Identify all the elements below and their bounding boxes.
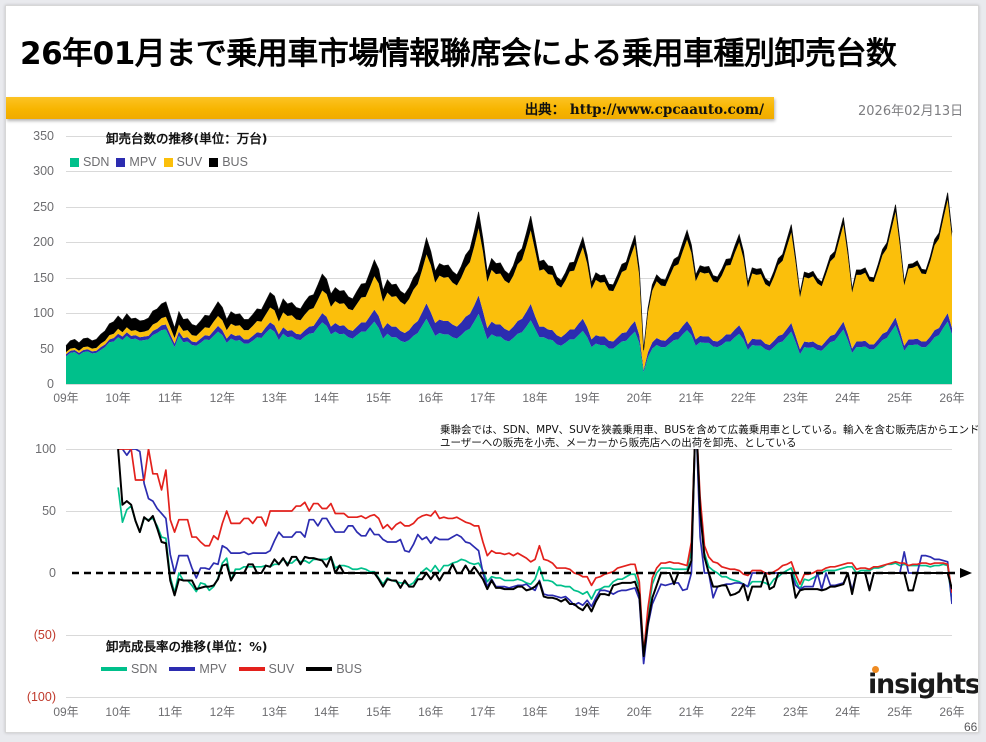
growth-legend-item: BUS	[306, 662, 362, 676]
growth-legend-label: SUV	[269, 662, 295, 676]
volume-x-tick: 13年	[251, 392, 297, 404]
volume-x-tick: 14年	[304, 392, 350, 404]
slide-date: 2026年02月13日	[858, 100, 963, 119]
volume-x-tick: 10年	[95, 392, 141, 404]
growth-x-tick: 17年	[460, 706, 506, 718]
growth-legend-item: SDN	[101, 662, 157, 676]
source-banner: 出典： http://www.cpcaauto.com/	[6, 97, 774, 119]
insights-logo: insights	[868, 671, 979, 698]
logo-dot-icon	[872, 666, 879, 673]
growth-x-tick: 24年	[825, 706, 871, 718]
volume-legend-label: SDN	[83, 155, 109, 169]
source-label: 出典： http://www.cpcaauto.com/	[525, 98, 764, 118]
zero-line-arrow-icon	[960, 568, 972, 578]
volume-legend-item: SDN	[70, 155, 109, 169]
volume-x-tick: 24年	[825, 392, 871, 404]
volume-y-tick: 100	[14, 307, 54, 320]
volume-x-tick: 16年	[408, 392, 454, 404]
growth-x-tick: 26年	[929, 706, 975, 718]
volume-legend-item: MPV	[116, 155, 156, 169]
growth-legend-label: BUS	[336, 662, 362, 676]
volume-x-tick: 15年	[356, 392, 402, 404]
growth-line-bus	[118, 436, 952, 656]
growth-line-mpv	[118, 436, 952, 664]
growth-x-tick: 18年	[512, 706, 558, 718]
growth-x-tick: 15年	[356, 706, 402, 718]
volume-legend-item: BUS	[209, 155, 248, 169]
volume-area-mpv	[66, 295, 952, 372]
volume-area-bus	[66, 193, 952, 352]
slide-canvas: 26年01月まで乗用車市場情報聯席会による乗用車種別卸売台数 出典： http:…	[5, 5, 979, 733]
volume-x-tick: 12年	[199, 392, 245, 404]
volume-y-tick: 350	[14, 130, 54, 143]
growth-y-tick: (100)	[10, 691, 56, 704]
legend-swatch-icon	[116, 158, 125, 167]
growth-chart-title: 卸売成長率の推移(単位：%)	[106, 636, 267, 655]
volume-stack-outline	[66, 193, 952, 350]
growth-x-tick: 13年	[251, 706, 297, 718]
growth-y-tick: 0	[10, 567, 56, 580]
growth-x-tick: 12年	[199, 706, 245, 718]
growth-x-tick: 25年	[877, 706, 923, 718]
growth-x-tick: 20年	[616, 706, 662, 718]
growth-x-tick: 10年	[95, 706, 141, 718]
legend-line-icon	[306, 667, 332, 671]
volume-y-tick: 50	[14, 343, 54, 356]
growth-x-tick: 09年	[43, 706, 89, 718]
growth-x-tick: 16年	[408, 706, 454, 718]
volume-x-tick: 21年	[668, 392, 714, 404]
legend-swatch-icon	[209, 158, 218, 167]
growth-rate-chart: (100)(50)050100 09年10年11年12年13年14年15年16年…	[6, 436, 978, 726]
growth-legend-label: MPV	[199, 662, 226, 676]
growth-x-tick: 21年	[668, 706, 714, 718]
growth-legend-item: SUV	[239, 662, 295, 676]
growth-legend-label: SDN	[131, 662, 157, 676]
volume-x-tick: 11年	[147, 392, 193, 404]
legend-swatch-icon	[164, 158, 173, 167]
volume-y-tick: 300	[14, 165, 54, 178]
volume-legend-label: SUV	[177, 155, 203, 169]
volume-x-tick: 20年	[616, 392, 662, 404]
growth-x-tick: 14年	[304, 706, 350, 718]
legend-line-icon	[169, 667, 195, 671]
volume-legend-item: SUV	[164, 155, 203, 169]
volume-area-suv	[66, 200, 952, 370]
logo-text: insights	[868, 669, 979, 700]
volume-x-tick: 19年	[564, 392, 610, 404]
growth-y-tick: (50)	[10, 629, 56, 642]
volume-chart-title: 卸売台数の推移(単位：万台)	[106, 128, 267, 147]
legend-swatch-icon	[70, 158, 79, 167]
page-title: 26年01月まで乗用車市場情報聯席会による乗用車種別卸売台数	[20, 28, 960, 73]
volume-legend: SDNMPVSUVBUS	[70, 155, 248, 169]
growth-x-tick: 19年	[564, 706, 610, 718]
growth-x-tick: 23年	[773, 706, 819, 718]
volume-y-tick: 0	[14, 378, 54, 391]
growth-legend: SDNMPVSUVBUS	[101, 662, 362, 676]
volume-y-tick: 250	[14, 201, 54, 214]
growth-y-tick: 50	[10, 505, 56, 518]
volume-legend-label: MPV	[129, 155, 156, 169]
legend-line-icon	[239, 667, 265, 671]
volume-x-tick: 09年	[43, 392, 89, 404]
volume-legend-label: BUS	[222, 155, 248, 169]
volume-x-tick: 22年	[721, 392, 767, 404]
volume-y-tick: 150	[14, 272, 54, 285]
growth-y-tick: 100	[10, 443, 56, 456]
legend-line-icon	[101, 667, 127, 671]
volume-x-tick: 17年	[460, 392, 506, 404]
wholesale-volume-chart: 050100150200250300350 09年10年11年12年13年14年…	[6, 124, 978, 404]
volume-x-tick: 26年	[929, 392, 975, 404]
growth-x-tick: 22年	[721, 706, 767, 718]
page-number: 66	[964, 720, 977, 733]
growth-x-tick: 11年	[147, 706, 193, 718]
volume-x-tick: 25年	[877, 392, 923, 404]
volume-y-tick: 200	[14, 236, 54, 249]
growth-legend-item: MPV	[169, 662, 226, 676]
growth-line-sdn	[118, 436, 952, 656]
volume-x-tick: 23年	[773, 392, 819, 404]
growth-plot	[6, 436, 978, 726]
volume-x-tick: 18年	[512, 392, 558, 404]
growth-line-suv	[118, 436, 952, 654]
